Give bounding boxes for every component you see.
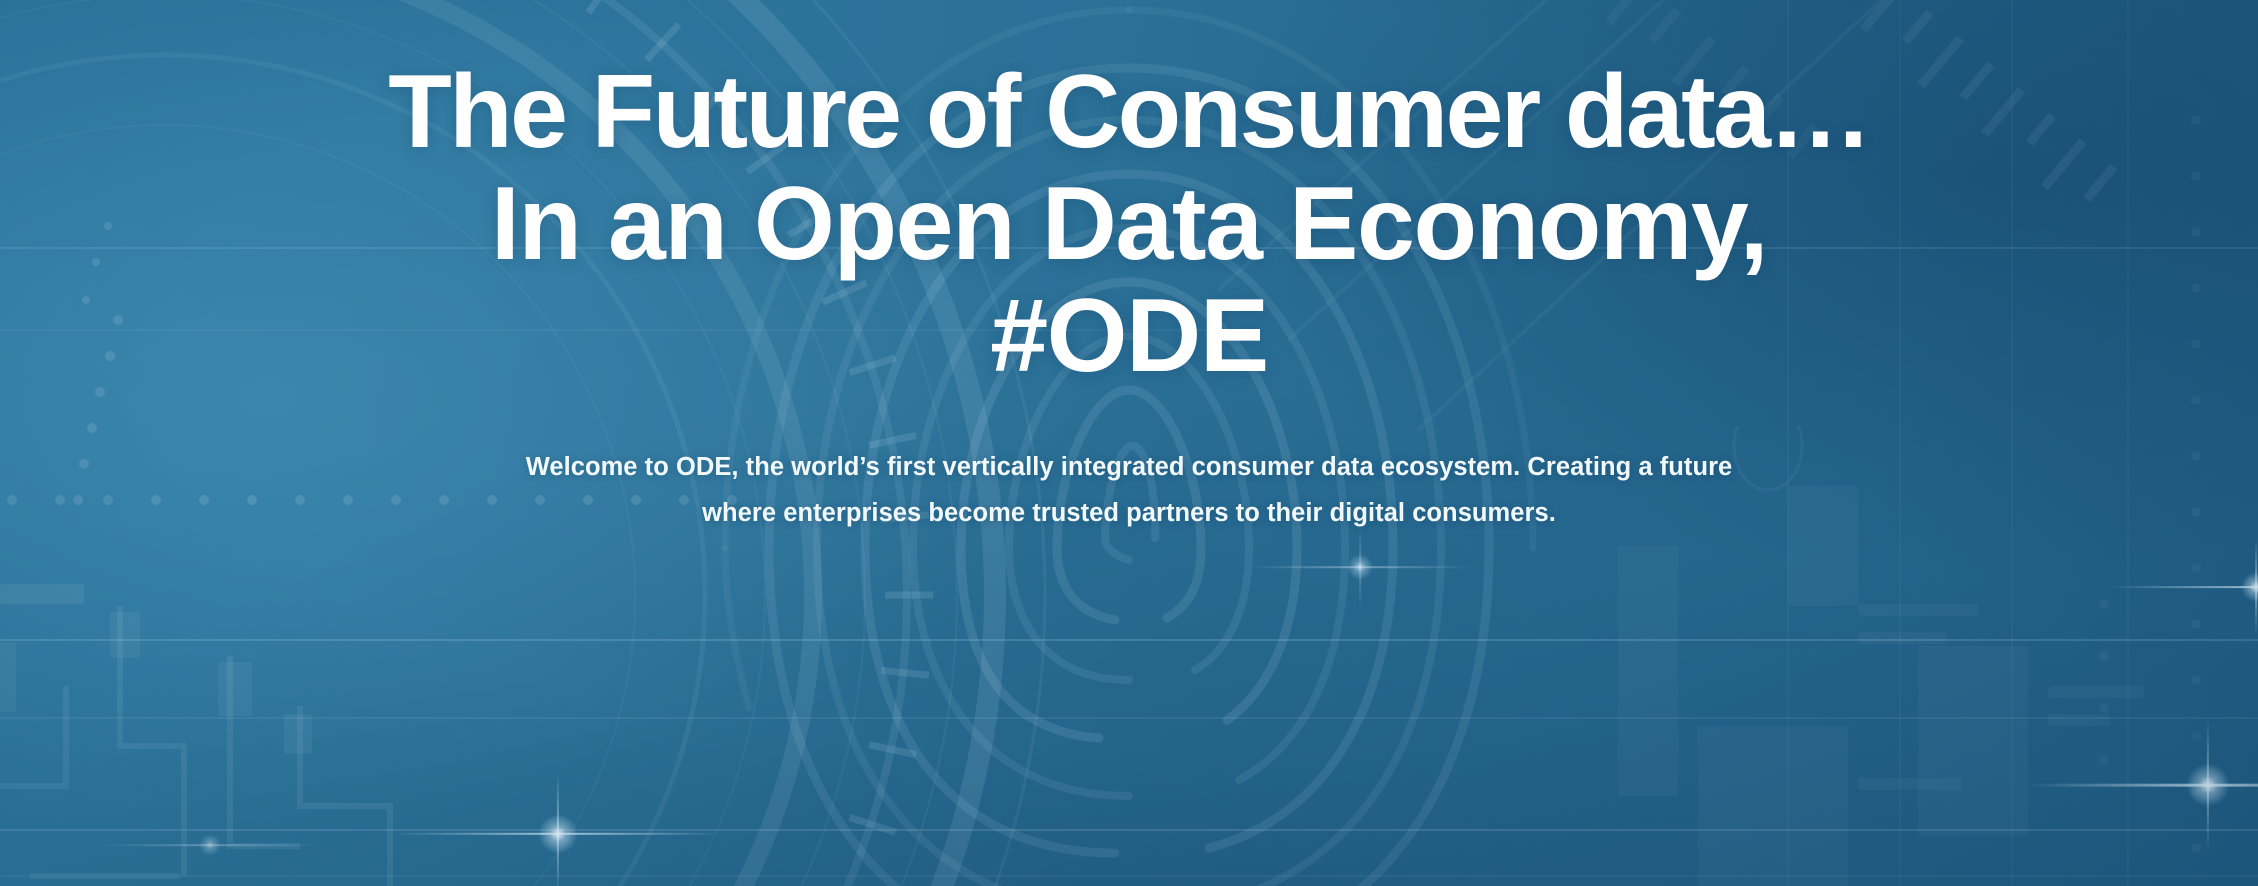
headline-line-1: The Future of Consumer data… [10,56,2248,168]
hero-subtitle: Welcome to ODE, the world’s first vertic… [514,444,1744,536]
subtitle-line-3: consumers. [1412,499,1556,527]
subtitle-line-1: Welcome to ODE, the world’s first vertic… [526,453,1521,481]
page-title: The Future of Consumer data… In an Open … [10,56,2248,392]
hero-banner: The Future of Consumer data… In an Open … [0,0,2258,886]
headline-line-3: #ODE [10,280,2248,392]
headline-line-2: In an Open Data Economy, [10,168,2248,280]
hero-content: The Future of Consumer data… In an Open … [0,0,2258,886]
